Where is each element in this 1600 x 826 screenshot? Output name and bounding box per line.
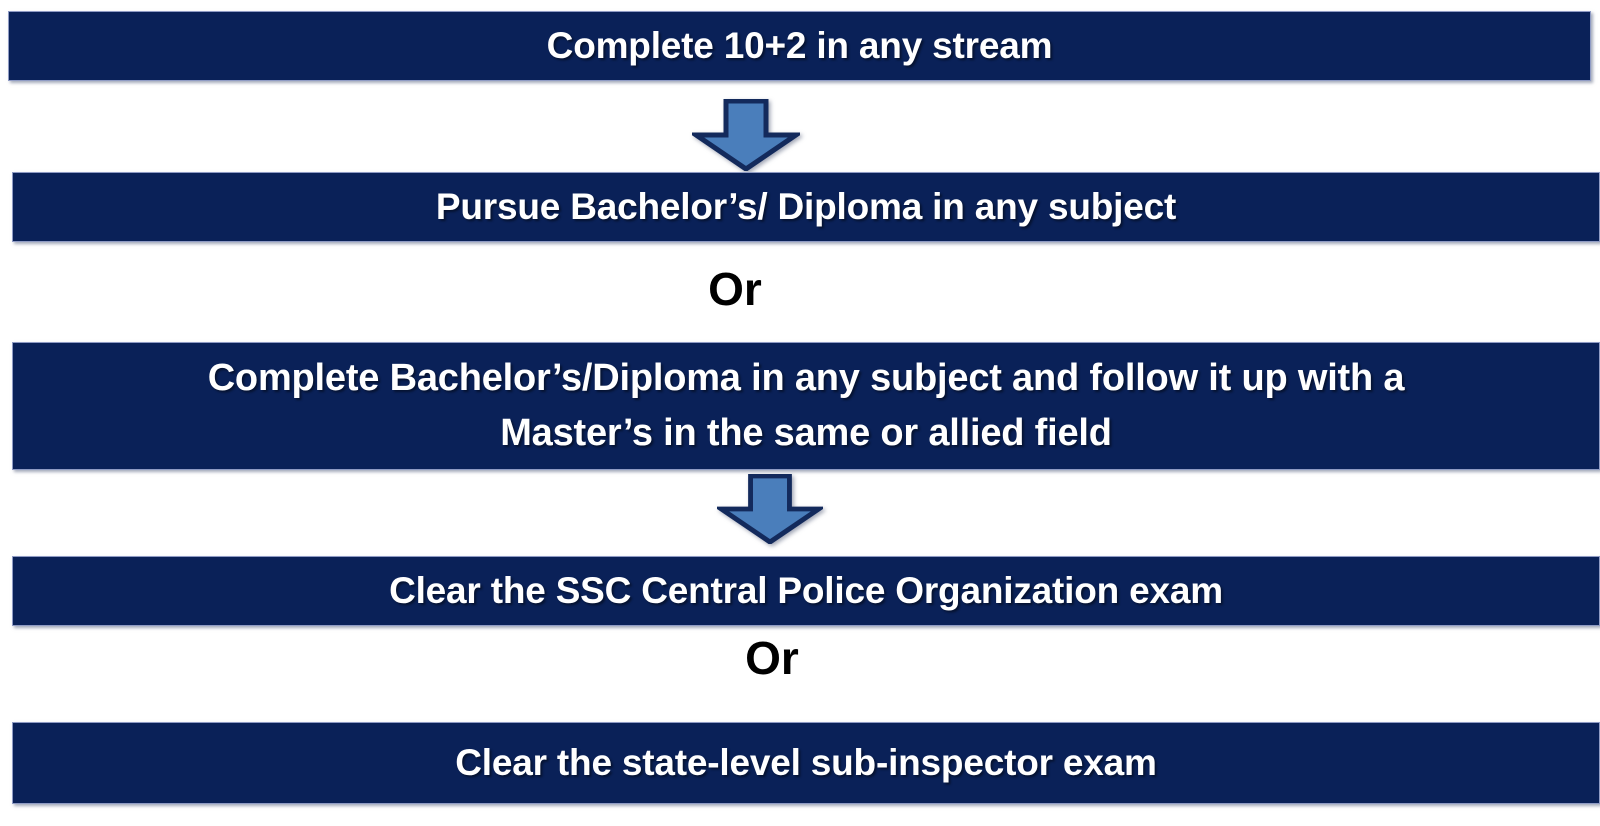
connector-or-1: Or	[708, 266, 762, 312]
flow-step-label: Complete 10+2 in any stream	[535, 24, 1065, 68]
flowchart-canvas: Complete 10+2 in any stream Pursue Bache…	[0, 0, 1600, 826]
flow-step-label: Clear the state-level sub-inspector exam	[443, 741, 1168, 785]
flow-step-ssc-cpo-exam[interactable]: Clear the SSC Central Police Organizatio…	[12, 556, 1600, 626]
connector-or-2: Or	[745, 635, 799, 681]
flow-step-label: Pursue Bachelor’s/ Diploma in any subjec…	[424, 185, 1188, 229]
connector-or-label: Or	[745, 632, 799, 684]
flow-step-complete-10plus2[interactable]: Complete 10+2 in any stream	[8, 11, 1591, 81]
connector-or-label: Or	[708, 263, 762, 315]
flow-step-label: Complete Bachelor’s/Diploma in any subje…	[196, 351, 1417, 461]
down-arrow-icon	[717, 474, 823, 544]
down-arrow-icon	[692, 99, 800, 171]
flow-step-pursue-bachelors-diploma[interactable]: Pursue Bachelor’s/ Diploma in any subjec…	[12, 172, 1600, 242]
flow-step-state-sub-inspector-exam[interactable]: Clear the state-level sub-inspector exam	[12, 722, 1600, 804]
flow-step-bachelors-plus-masters[interactable]: Complete Bachelor’s/Diploma in any subje…	[12, 342, 1600, 470]
flow-step-label: Clear the SSC Central Police Organizatio…	[377, 569, 1235, 613]
